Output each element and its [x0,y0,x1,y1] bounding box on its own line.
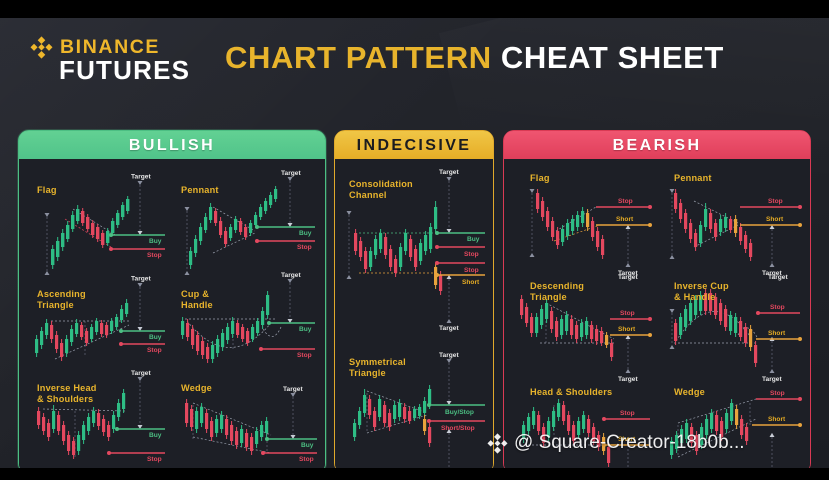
candles [353,385,431,447]
panel-indecisive-header: INDECISIVE [335,131,493,161]
pattern-card-consolidation-channel: Consolidation Channel [337,171,491,333]
pattern-card-bullish-cup-handle: Cup & Handle [171,281,321,377]
label-buy: Buy [301,442,314,449]
label-buy-stop: Buy/Stop [445,409,474,416]
pattern-card-symmetrical-triangle: Symmetrical Triangle [337,349,491,468]
label-stop-lower: Stop [464,267,479,274]
label-target-top: Target [768,274,788,281]
pattern-card-bullish-ascending-triangle: Ascending Triangle [25,281,173,377]
label-buy: Buy [149,334,162,341]
candles [354,201,442,295]
label-short: Short [768,330,786,337]
infographic-canvas: BINANCE FUTURES CHART PATTERN CHEAT SHEE… [0,18,829,468]
pattern-title: Pennant [674,173,712,184]
letterbox-top [0,0,829,18]
label-buy: Buy [149,432,162,439]
label-stop: Stop [770,390,785,397]
label-stop: Stop [768,198,783,205]
pattern-title: Flag [530,173,550,184]
label-stop: Stop [297,352,312,359]
label-short-stop: Short/Stop [441,425,475,432]
binance-diamond-logo-icon [30,36,53,59]
panel-indecisive-body: Consolidation Channel [335,159,493,468]
pattern-card-bullish-inverse-hs: Inverse Head & Shoulders [25,377,173,468]
label-target-bottom: Target [762,376,782,383]
pattern-title: Descending Triangle [530,281,584,302]
candles [185,399,268,455]
label-stop-upper: Stop [464,251,479,258]
page-title-white: CHEAT SHEET [501,40,724,75]
panel-indecisive: INDECISIVE Consolidation Channel [334,130,494,468]
page-header: BINANCE FUTURES CHART PATTERN CHEAT SHEE… [0,18,829,100]
candles [51,196,129,269]
pattern-title: Consolidation Channel [349,179,413,200]
label-stop: Stop [620,410,635,417]
pattern-title: Inverse Head & Shoulders [37,383,97,404]
pattern-chart: Stop Short Target [656,169,806,277]
panel-bullish-body: Flag [19,159,325,468]
pattern-title: Wedge [181,383,212,394]
label-target-bottom: Target [439,325,459,332]
label-stop: Stop [620,310,635,317]
panel-bearish: BEARISH Flag [503,130,811,468]
label-stop: Stop [618,198,633,205]
pattern-title: Cup & Handle [181,289,213,310]
panel-bearish-header: BEARISH [504,131,810,161]
label-target: Target [131,370,151,377]
label-buy: Buy [467,236,480,243]
label-target: Target [281,272,301,279]
candles [536,189,604,259]
watermark-text: @ Square-Creator-18b0b... [514,432,745,454]
pattern-card-descending-triangle: Descending Triangle [510,277,658,385]
binance-futures-brand: BINANCE FUTURES [30,36,190,86]
pattern-card-bullish-flag: Flag [25,179,173,279]
panel-bullish-header: BULLISH [19,131,325,161]
label-buy: Buy [299,326,312,333]
pattern-title: Wedge [674,387,705,398]
brand-sub: FUTURES [59,55,190,86]
label-stop: Stop [770,304,785,311]
page-title: CHART PATTERN CHEAT SHEET [225,40,724,76]
pattern-card-bullish-pennant: Pennant [171,179,321,279]
pattern-card-bearish-pennant: Pennant [656,169,806,277]
pattern-card-inverse-cup-handle: Inverse Cup & Handle [656,277,806,385]
panel-bearish-body: Flag [504,159,810,468]
pattern-chart: Stop Short Target [510,169,658,277]
label-stop: Stop [299,456,314,463]
label-stop: Stop [147,347,162,354]
page-title-gold: CHART PATTERN [225,40,492,75]
label-stop: Stop [147,456,162,463]
screenshot-root: BINANCE FUTURES CHART PATTERN CHEAT SHEE… [0,0,829,480]
label-short: Short [616,216,634,223]
label-short: Short [462,279,480,286]
label-stop: Stop [147,252,162,259]
label-short: Short [768,416,786,423]
label-target: Target [281,170,301,177]
label-target: Target [131,174,151,181]
pattern-title: Symmetrical Triangle [349,357,406,378]
watermark: @ Square-Creator-18b0b... [487,432,745,454]
pattern-title: Head & Shoulders [530,387,612,398]
pattern-title: Inverse Cup & Handle [674,281,729,302]
pattern-card-bullish-wedge: Wedge [171,377,321,468]
pattern-title: Ascending Triangle [37,289,86,310]
pattern-title: Flag [37,185,57,196]
label-buy: Buy [149,238,162,245]
pattern-title: Pennant [181,185,219,196]
letterbox-bottom [0,468,829,480]
label-short: Short [766,216,784,223]
label-short: Short [618,326,636,333]
candles [520,295,613,361]
label-buy: Buy [299,230,312,237]
label-stop: Stop [297,244,312,251]
pattern-card-head-shoulders: Head & Shoulders [510,385,658,468]
label-target: Target [283,386,303,393]
pattern-card-bearish-flag: Flag [510,169,658,277]
pattern-card-bearish-wedge: Wedge [656,385,806,468]
label-target-bottom: Target [618,376,638,383]
label-target-top: Target [618,274,638,281]
label-target-top: Target [439,169,459,176]
binance-diamond-logo-icon [487,433,508,454]
label-target: Target [131,276,151,283]
label-target-top: Target [439,352,459,359]
panel-bullish: BULLISH Flag [18,130,326,468]
